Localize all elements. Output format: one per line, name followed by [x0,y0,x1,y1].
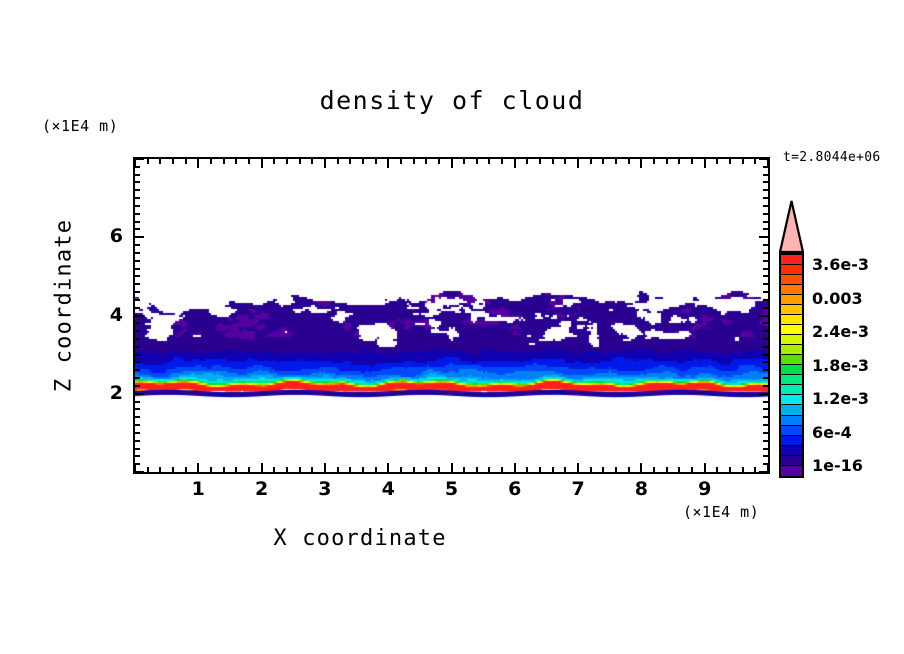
axis-tick [763,346,768,348]
axis-tick [299,159,301,164]
axis-tick [704,463,706,472]
axis-tick [754,467,756,472]
axis-tick [135,197,140,199]
axis-tick [763,307,768,309]
axis-tick [763,330,768,332]
axis-tick [286,159,288,164]
axis-tick [210,467,212,472]
axis-tick [678,467,680,472]
axis-tick [742,159,744,164]
axis-tick [135,455,140,457]
axis-tick [135,236,144,238]
axis-tick [763,283,768,285]
axis-tick [564,159,566,164]
axis-tick [135,401,140,403]
axis-tick [425,159,427,164]
axis-tick [172,159,174,164]
x-tick-label: 4 [373,478,403,500]
axis-tick [135,369,140,371]
axis-tick [763,260,768,262]
x-axis-units: (×1E4 m) [683,503,759,521]
axis-tick [729,159,731,164]
axis-tick [666,467,668,472]
axis-tick [716,159,718,164]
axis-tick [552,467,554,472]
plot-area [133,157,770,474]
axis-tick [425,467,427,472]
y-axis-units: (×1E4 m) [42,117,118,135]
axis-tick [273,467,275,472]
axis-tick [763,181,768,183]
axis-tick [135,471,144,473]
colorbar-band [781,285,802,295]
axis-tick [476,159,478,164]
axis-tick [362,159,364,164]
axis-tick [349,467,351,472]
axis-tick [763,268,768,270]
axis-tick [763,244,768,246]
x-tick-label: 9 [690,478,720,500]
axis-tick [763,322,768,324]
axis-tick [763,463,768,465]
axis-tick [235,159,237,164]
colorbar-band [781,275,802,285]
axis-tick [742,467,744,472]
axis-tick [590,159,592,164]
axis-tick [729,467,731,472]
axis-tick [135,275,140,277]
axis-tick [349,159,351,164]
x-tick-label: 8 [626,478,656,500]
axis-tick [135,299,140,301]
axis-tick [324,159,326,168]
axis-tick [135,283,140,285]
colorbar-band [781,395,802,405]
colorbar-band [781,385,802,395]
axis-tick [539,159,541,164]
axis-tick [273,159,275,164]
axis-tick [763,424,768,426]
colorbar-band [781,416,802,426]
axis-tick [135,432,140,434]
axis-tick [763,174,768,176]
axis-tick [653,467,655,472]
axis-tick [135,354,140,356]
colorbar-band [781,365,802,375]
colorbar-band [781,265,802,275]
axis-tick [261,159,263,168]
axis-tick [135,189,140,191]
axis-tick [261,463,263,472]
axis-tick [400,159,402,164]
axis-tick [759,393,768,395]
axis-tick [135,440,140,442]
axis-tick [763,440,768,442]
axis-tick [185,159,187,164]
axis-tick [763,213,768,215]
axis-tick [147,467,149,472]
axis-tick [135,260,140,262]
axis-tick [763,228,768,230]
axis-tick [135,291,140,293]
axis-tick [400,467,402,472]
axis-tick [678,159,680,164]
colorbar-band [781,255,802,265]
axis-tick [763,385,768,387]
axis-tick [577,463,579,472]
axis-tick [337,159,339,164]
axis-tick [324,463,326,472]
axis-tick [759,471,768,473]
axis-tick [299,467,301,472]
axis-tick [438,467,440,472]
axis-tick [135,166,140,168]
axis-tick [135,424,140,426]
y-tick-label: 4 [93,304,123,326]
page-title: density of cloud [0,86,904,115]
axis-tick [628,467,630,472]
y-axis-label: Z coordinate [52,206,77,406]
y-tick-label: 2 [93,382,123,404]
colorbar-band [781,325,802,335]
colorbar-tick-label: 6e-4 [812,423,852,442]
x-tick-label: 6 [500,478,530,500]
axis-tick [640,463,642,472]
axis-tick [602,467,604,472]
axis-tick [172,467,174,472]
colorbar-tick-label: 1.2e-3 [812,389,869,408]
x-tick-label: 7 [563,478,593,500]
axis-tick [451,159,453,168]
timestamp-annotation: t=2.8044e+06 [783,150,881,165]
axis-tick [135,463,140,465]
axis-tick [387,463,389,472]
axis-tick [135,338,140,340]
axis-tick [135,346,140,348]
axis-tick [375,467,377,472]
colorbar-tick-label: 1e-16 [812,456,863,475]
axis-tick [463,467,465,472]
axis-tick [763,448,768,450]
axis-tick [135,416,140,418]
colorbar-band [781,466,802,476]
axis-tick [640,159,642,168]
contour-field [135,159,768,472]
colorbar-tick-label: 1.8e-3 [812,356,869,375]
axis-tick [135,158,144,160]
colorbar-band [781,315,802,325]
axis-tick [666,159,668,164]
axis-tick [704,159,706,168]
axis-tick [135,181,140,183]
axis-tick [197,463,199,472]
axis-tick [763,221,768,223]
axis-tick [311,467,313,472]
axis-tick [159,159,161,164]
axis-tick [691,159,693,164]
axis-tick [147,159,149,164]
axis-tick [375,159,377,164]
colorbar-band [781,305,802,315]
axis-tick [526,467,528,472]
axis-tick [387,159,389,168]
colorbar-band [781,345,802,355]
colorbar-band [781,355,802,365]
axis-tick [223,159,225,164]
axis-tick [514,159,516,168]
axis-tick [763,197,768,199]
axis-tick [602,159,604,164]
axis-tick [135,361,140,363]
x-axis-label: X coordinate [0,526,720,551]
axis-tick [476,467,478,472]
axis-tick [763,401,768,403]
axis-tick [488,467,490,472]
axis-tick [763,455,768,457]
axis-tick [185,467,187,472]
axis-tick [763,377,768,379]
axis-tick [763,338,768,340]
axis-tick [135,268,140,270]
axis-tick [763,354,768,356]
axis-tick [286,467,288,472]
colorbar-tick-label: 3.6e-3 [812,255,869,274]
colorbar [779,253,804,478]
axis-tick [763,189,768,191]
axis-tick [759,236,768,238]
axis-tick [552,159,554,164]
axis-tick [311,159,313,164]
axis-tick [716,467,718,472]
axis-tick [539,467,541,472]
axis-tick [248,467,250,472]
axis-tick [210,159,212,164]
x-tick-label: 3 [310,478,340,500]
axis-tick [763,252,768,254]
x-tick-label: 2 [247,478,277,500]
axis-tick [763,299,768,301]
colorbar-band [781,375,802,385]
axis-tick [564,467,566,472]
axis-tick [135,448,140,450]
colorbar-band [781,436,802,446]
axis-tick [413,467,415,472]
axis-tick [526,159,528,164]
axis-tick [135,322,140,324]
axis-tick [135,408,140,410]
colorbar-band [781,456,802,466]
x-tick-label: 5 [437,478,467,500]
axis-tick [763,291,768,293]
colorbar-tick-label: 2.4e-3 [812,322,869,341]
axis-tick [362,467,364,472]
x-tick-label: 1 [183,478,213,500]
axis-tick [135,377,140,379]
axis-tick [577,159,579,168]
axis-tick [159,467,161,472]
colorbar-band [781,446,802,456]
axis-tick [763,369,768,371]
colorbar-band [781,426,802,436]
axis-tick [337,467,339,472]
axis-tick [135,228,140,230]
axis-tick [235,467,237,472]
axis-tick [763,205,768,207]
axis-tick [413,159,415,164]
axis-tick [653,159,655,164]
axis-tick [135,330,140,332]
axis-tick [501,467,503,472]
axis-tick [763,432,768,434]
y-tick-label: 6 [93,225,123,247]
axis-tick [248,159,250,164]
colorbar-band [781,295,802,305]
axis-tick [759,315,768,317]
colorbar-tick-label: 0.003 [812,289,863,308]
axis-tick [197,159,199,168]
axis-tick [590,467,592,472]
axis-tick [135,252,140,254]
axis-tick [223,467,225,472]
colorbar-band [781,405,802,415]
axis-tick [628,159,630,164]
axis-tick [463,159,465,164]
axis-tick [135,174,140,176]
axis-tick [763,166,768,168]
figure-canvas: density of cloud (×1E4 m) t=2.8044e+06 1… [0,0,904,654]
axis-tick [754,159,756,164]
colorbar-band [781,335,802,345]
axis-tick [135,393,144,395]
axis-tick [135,307,140,309]
axis-tick [691,467,693,472]
axis-tick [763,361,768,363]
axis-tick [135,205,140,207]
axis-tick [438,159,440,164]
axis-tick [135,315,144,317]
axis-tick [135,244,140,246]
axis-tick [763,416,768,418]
axis-tick [488,159,490,164]
axis-tick [763,275,768,277]
axis-tick [514,463,516,472]
axis-tick [501,159,503,164]
axis-tick [759,158,768,160]
axis-tick [615,467,617,472]
axis-tick [135,385,140,387]
axis-tick [135,221,140,223]
axis-tick [763,408,768,410]
colorbar-over-arrow [779,200,804,253]
axis-tick [615,159,617,164]
axis-tick [451,463,453,472]
axis-tick [135,213,140,215]
